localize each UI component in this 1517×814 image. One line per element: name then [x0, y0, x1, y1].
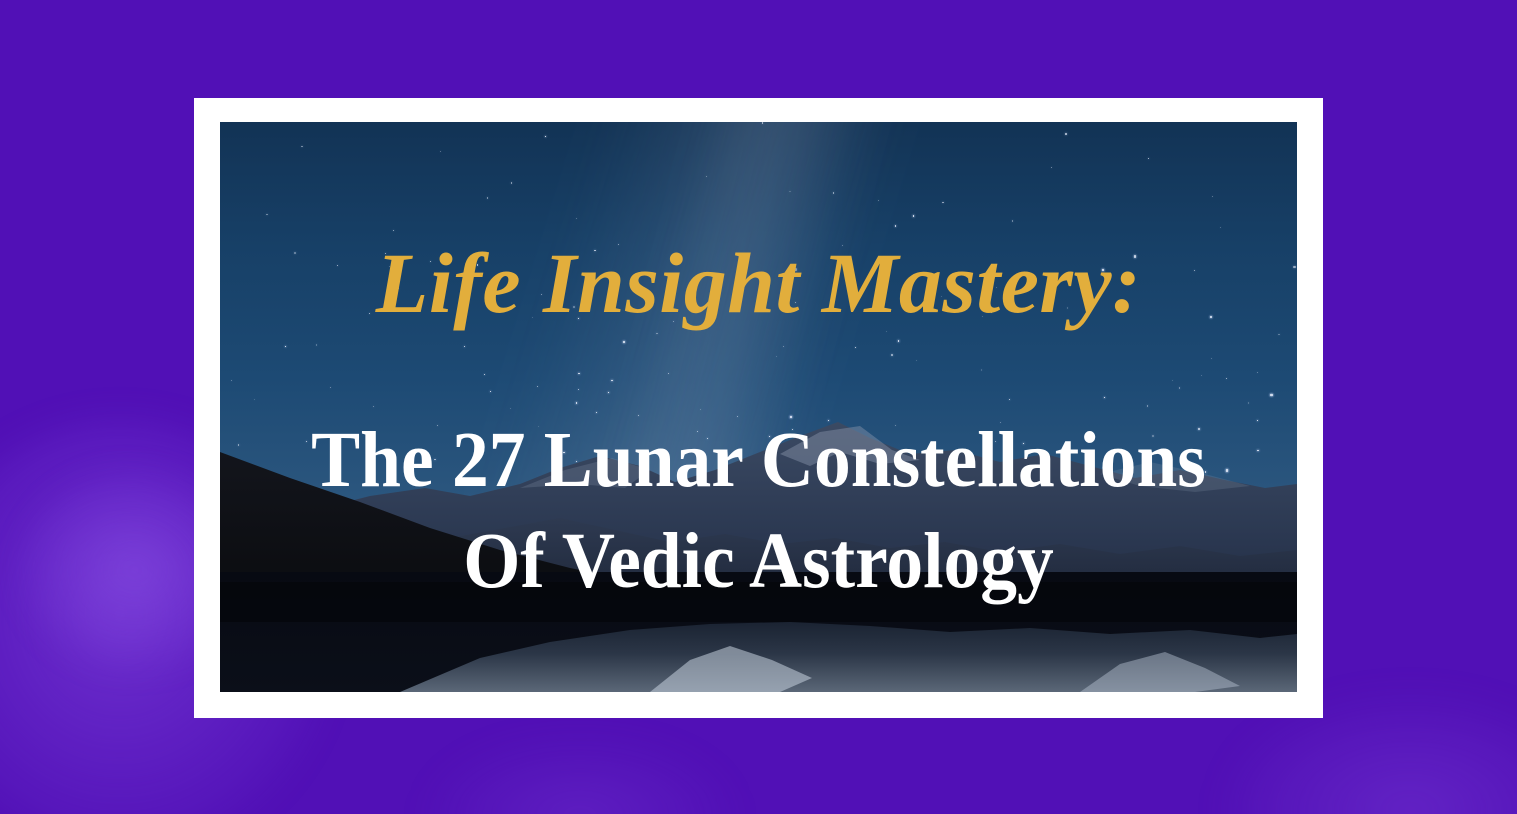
star	[231, 380, 232, 381]
star	[393, 230, 394, 231]
star	[316, 344, 318, 346]
subtitle-block: The 27 Lunar Constellations Of Vedic Ast…	[258, 410, 1260, 612]
star	[266, 214, 267, 215]
star	[898, 340, 899, 341]
white-photo-frame: Life Insight Mastery: The 27 Lunar Const…	[194, 98, 1323, 718]
star	[623, 341, 624, 342]
star	[1065, 133, 1067, 135]
star	[891, 354, 893, 356]
star	[511, 182, 512, 183]
star	[1257, 372, 1258, 373]
star	[656, 333, 657, 334]
star	[762, 122, 763, 123]
star	[440, 151, 441, 152]
star	[916, 360, 917, 361]
star	[895, 225, 896, 226]
star	[1212, 196, 1213, 197]
star	[1211, 358, 1212, 359]
star	[706, 176, 707, 177]
star	[330, 387, 331, 388]
star	[578, 389, 579, 390]
star	[1201, 375, 1202, 376]
star	[1278, 334, 1280, 336]
page-title: Life Insight Mastery:	[220, 240, 1297, 326]
star	[537, 386, 538, 387]
subtitle-line-1: The 27 Lunar Constellations	[311, 417, 1206, 504]
headline-block: Life Insight Mastery:	[220, 240, 1297, 326]
star	[878, 200, 879, 201]
starry-night-mountain-lake-photo: Life Insight Mastery: The 27 Lunar Const…	[220, 122, 1297, 692]
star	[981, 369, 982, 370]
star	[1220, 227, 1221, 228]
star	[913, 215, 914, 216]
star	[301, 146, 302, 147]
star	[1148, 158, 1149, 159]
star	[789, 191, 790, 192]
star	[855, 347, 856, 348]
star	[285, 346, 286, 347]
subtitle-line-2: Of Vedic Astrology	[258, 511, 1260, 612]
star	[611, 380, 612, 381]
star	[1172, 380, 1173, 381]
star	[942, 202, 944, 204]
star	[578, 373, 580, 375]
star	[776, 356, 777, 357]
star	[1012, 220, 1013, 221]
star	[576, 218, 577, 219]
poster-canvas: Life Insight Mastery: The 27 Lunar Const…	[0, 0, 1517, 814]
star	[545, 136, 546, 137]
star	[464, 346, 466, 348]
star	[484, 374, 485, 375]
star	[1051, 167, 1052, 168]
star	[1179, 387, 1180, 388]
star	[783, 346, 784, 347]
star	[668, 373, 669, 374]
star	[833, 192, 834, 193]
star	[1226, 378, 1227, 379]
star	[487, 197, 488, 198]
